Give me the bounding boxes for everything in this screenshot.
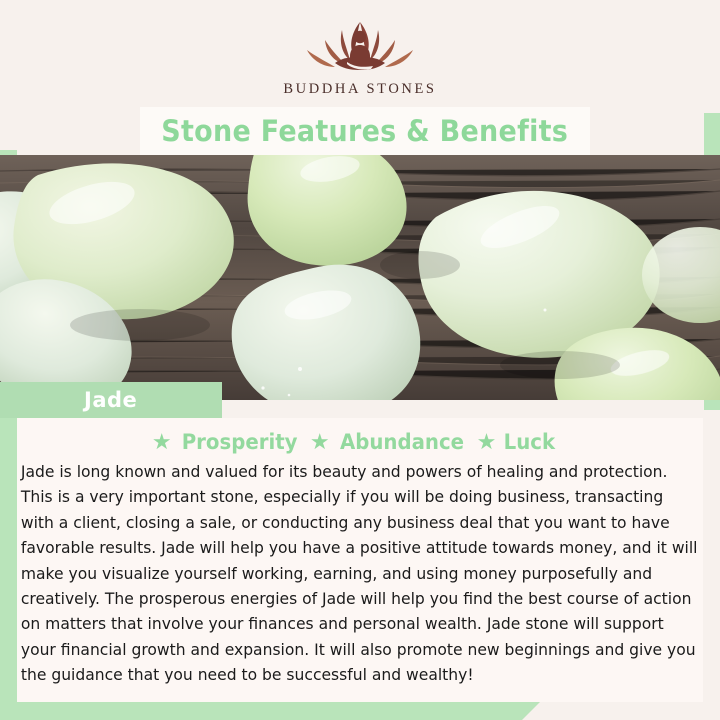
star-icon: ★ [477, 431, 497, 453]
stone-name-band: Jade [0, 382, 222, 418]
green-accent-bottom [0, 702, 540, 720]
benefit-label: Abundance [340, 430, 464, 454]
lotus-meditation-icon [285, 16, 435, 78]
stone-name: Jade [84, 388, 137, 412]
benefit-item-prosperity: ★ Prosperity [152, 430, 301, 454]
jade-stones-photo [0, 155, 720, 400]
benefit-item-luck: ★ Luck [477, 430, 557, 454]
page-title: Stone Features & Benefits [162, 114, 569, 148]
brand-header: BUDDHA STONES [0, 0, 720, 113]
title-banner: Stone Features & Benefits [140, 107, 590, 155]
benefits-row: ★ Prosperity ★ Abundance ★ Luck [18, 427, 691, 457]
content-panel: ★ Prosperity ★ Abundance ★ Luck Jade is … [17, 418, 703, 702]
stone-description: Jade is long known and valued for its be… [18, 459, 698, 688]
benefit-label: Prosperity [181, 430, 297, 454]
stone-benefits-poster: BUDDHA STONES Stone Features & Benefits [0, 0, 720, 720]
brand-name: BUDDHA STONES [283, 81, 436, 98]
benefit-label: Luck [504, 430, 555, 454]
star-icon: ★ [152, 431, 172, 453]
star-icon: ★ [310, 431, 330, 453]
benefit-item-abundance: ★ Abundance [310, 430, 468, 454]
